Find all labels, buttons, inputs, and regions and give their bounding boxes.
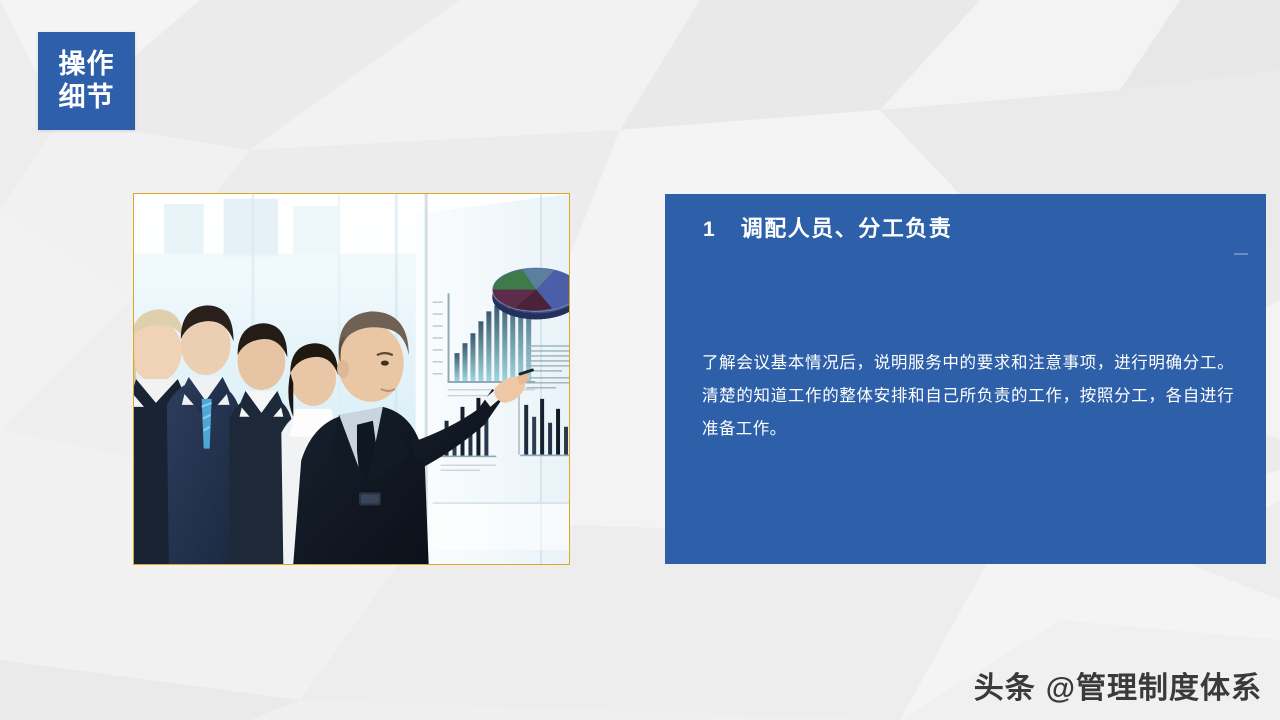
watermark-at-symbol: @ bbox=[1046, 672, 1076, 705]
watermark: 头条@管理制度体系 bbox=[974, 663, 1262, 707]
section-badge-line-2: 细节 bbox=[59, 81, 115, 114]
panel-heading: 1 调配人员、分工负责 bbox=[703, 214, 952, 245]
watermark-account: 管理制度体系 bbox=[1076, 672, 1262, 705]
content-panel: 1 调配人员、分工负责 了解会议基本情况后，说明服务中的要求和注意事项，进行明确… bbox=[665, 194, 1266, 564]
photo-card bbox=[133, 193, 570, 565]
panel-number: 1 bbox=[703, 215, 715, 245]
panel-title: 调配人员、分工负责 bbox=[741, 214, 953, 244]
panel-body-text: 了解会议基本情况后，说明服务中的要求和注意事项，进行明确分工。清楚的知道工作的整… bbox=[702, 347, 1234, 446]
watermark-prefix: 头条 bbox=[974, 672, 1036, 705]
panel-divider bbox=[1234, 253, 1248, 255]
slide-root: 操作 细节 bbox=[0, 0, 1280, 720]
section-badge: 操作 细节 bbox=[38, 32, 135, 130]
business-team-presentation-photo bbox=[134, 194, 569, 564]
section-badge-line-1: 操作 bbox=[59, 48, 115, 81]
